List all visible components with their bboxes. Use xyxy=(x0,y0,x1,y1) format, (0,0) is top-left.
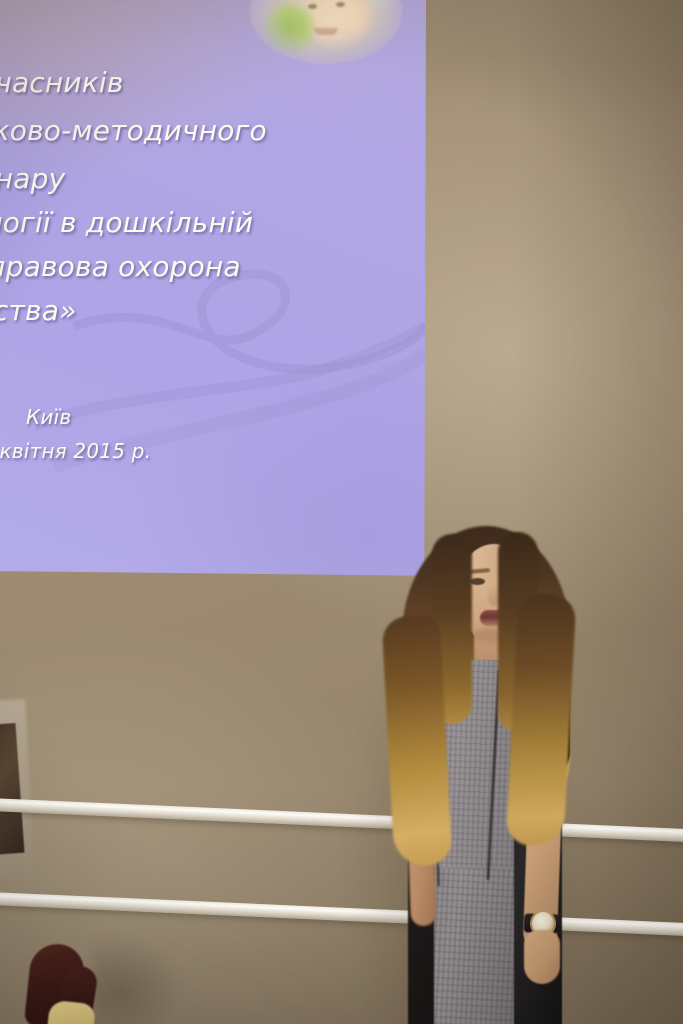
slide-line-1: о учасників xyxy=(0,68,124,98)
slide-date: 6 квітня 2015 р. xyxy=(0,440,151,462)
photo-scene: о учасників науково-методичного емінару … xyxy=(0,0,683,1024)
wooden-chair xyxy=(22,944,132,1024)
chair-shadow xyxy=(92,936,182,1024)
eye-left xyxy=(470,578,485,585)
slide-line-6: инства» xyxy=(0,296,77,326)
slide-line-3: емінару xyxy=(0,164,65,194)
slide-line-5: и: правова охорона xyxy=(0,252,241,282)
projection-screen: о учасників науково-методичного емінару … xyxy=(0,0,426,584)
slide-line-4: хнології в дошкільній xyxy=(0,208,253,238)
hand-right xyxy=(524,930,560,984)
presenter-figure xyxy=(372,520,602,1024)
slide-line-2: науково-методичного xyxy=(0,116,267,146)
slide-text-block: о учасників науково-методичного емінару … xyxy=(0,0,426,584)
slide-city: Київ xyxy=(26,406,71,428)
